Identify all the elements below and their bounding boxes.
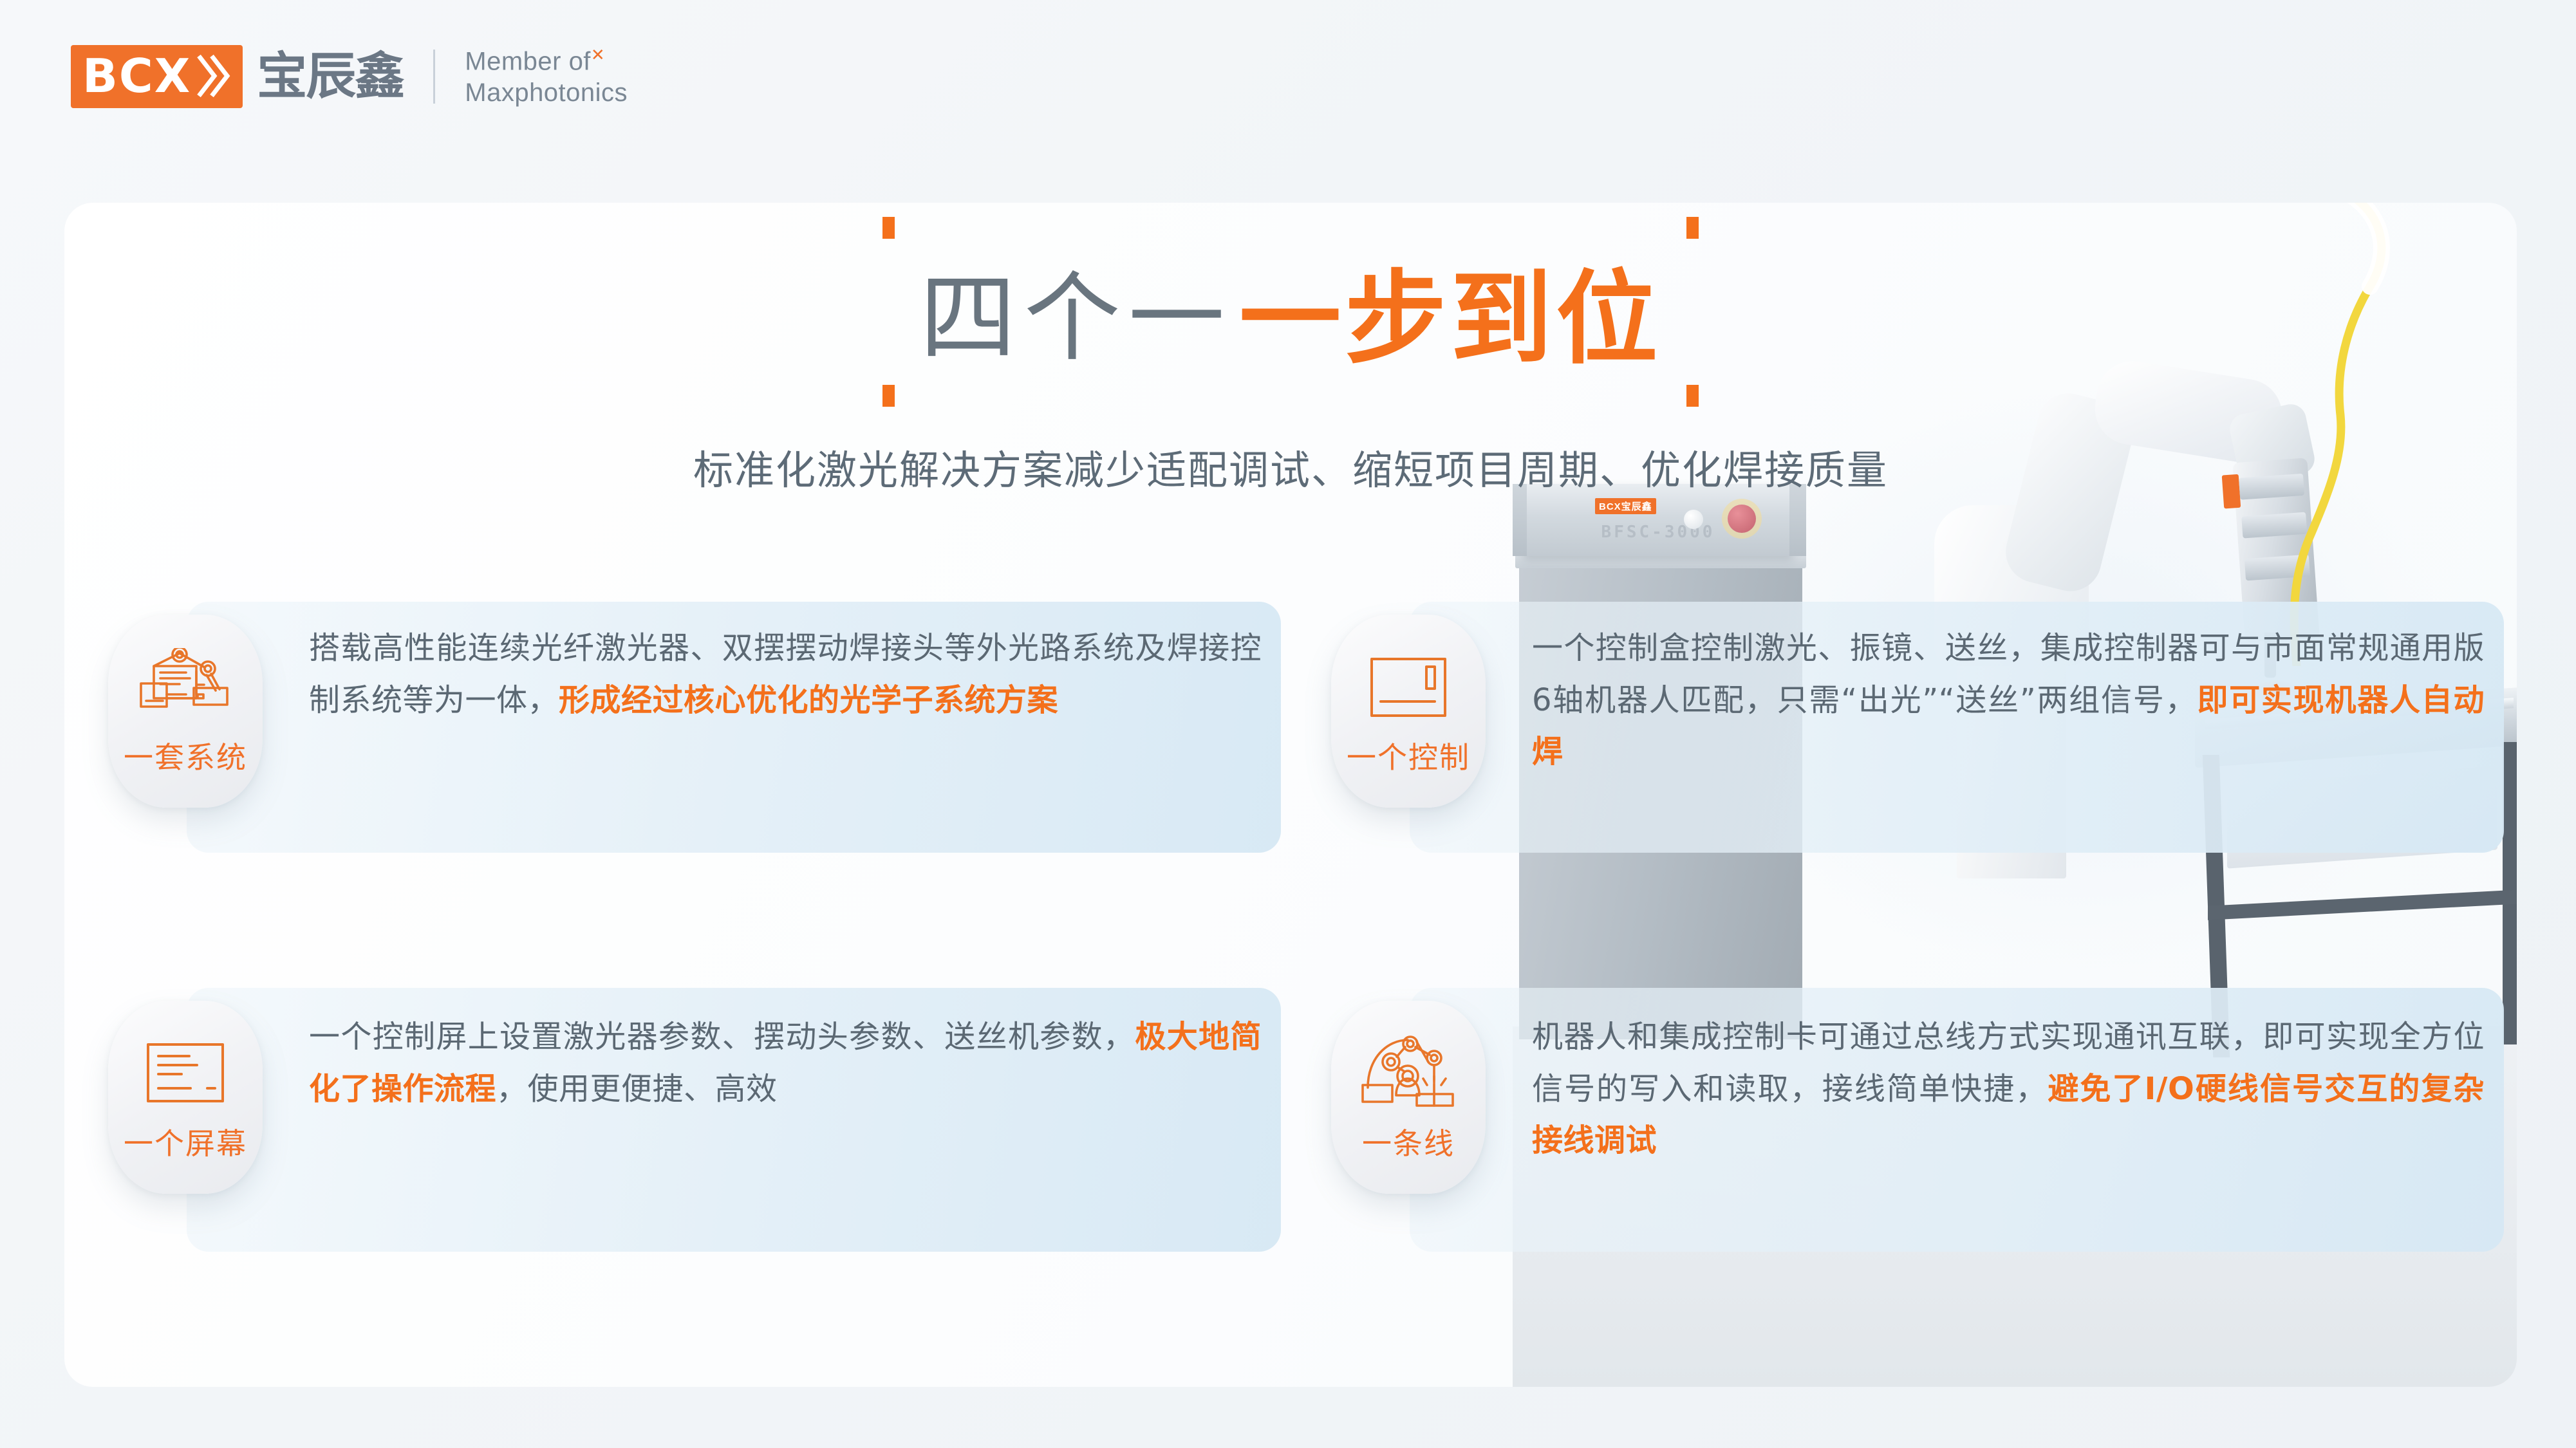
feature-badge-label: 一个屏幕 [124,1120,247,1163]
bcx-logo-letters: BCX [82,53,191,99]
bcx-logo: BCX 宝辰鑫 [71,45,404,108]
feature-badge-system[interactable]: 一套系统 [108,615,263,808]
hero-title: 四个一 一步到位 [894,236,1687,384]
feature-text-plain: 一个控制屏上设置激光器参数、摆动头参数、送丝机参数， [309,1019,1135,1055]
hero-title-gray: 四个一 [920,263,1233,375]
feature-body-text: 一个控制盒控制激光、振镜、送丝，集成控制器可与市面常规通用版6轴机器人匹配，只需… [1532,622,2485,778]
content-panel: BCX宝辰鑫 BFSC-3000 [64,203,2517,1387]
hero-subtitle: 标准化激光解决方案减少适配调试、缩短项目周期、优化焊接质量 [64,438,2517,496]
corner-mark-top-left [882,217,895,239]
brand-header: BCX 宝辰鑫 Member of✕ Maxphotonics [71,45,628,109]
member-of-line2: Maxphotonics [465,77,628,109]
feature-card-system[interactable]: 一套系统 搭载高性能连续光纤激光器、双摆摆动焊接头等外光路系统及焊接控制系统等为… [90,589,1287,949]
control-box-icon [1360,645,1457,729]
corner-mark-bottom-right [1686,385,1699,407]
feature-card-control[interactable]: 一个控制 一个控制盒控制激光、振镜、送丝，集成控制器可与市面常规通用版6轴机器人… [1313,589,2510,949]
feature-badge-control[interactable]: 一个控制 [1331,615,1486,808]
feature-badge-label: 一个控制 [1347,734,1470,777]
feature-body-text: 机器人和集成控制卡可通过总线方式实现通讯互联，即可实现全方位信号的写入和读取，接… [1532,1011,2485,1167]
corner-mark-bottom-left [882,385,895,407]
feature-badge-label: 一条线 [1362,1120,1455,1163]
hero-title-block: 四个一 一步到位 [64,236,2517,384]
bcx-chevron-icon [195,53,231,98]
screen-panel-icon [137,1032,234,1115]
feature-text-highlight: 形成经过核心优化的光学子系统方案 [559,682,1058,718]
emergency-stop-button [1728,505,1756,533]
feature-grid: 一套系统 搭载高性能连续光纤激光器、双摆摆动焊接头等外光路系统及焊接控制系统等为… [64,589,2517,1348]
feature-card-screen[interactable]: 一个屏幕 一个控制屏上设置激光器参数、摆动头参数、送丝机参数，极大地简化了操作流… [90,975,1287,1335]
maxphotonics-x-icon: ✕ [591,45,605,64]
logo-divider [433,50,435,104]
feature-body-text: 一个控制屏上设置激光器参数、摆动头参数、送丝机参数，极大地简化了操作流程，使用更… [309,1011,1262,1115]
bcx-logo-mark: BCX [71,45,243,108]
feature-badge-bus-line[interactable]: 一条线 [1331,1001,1486,1194]
member-of-block: Member of✕ Maxphotonics [465,45,628,109]
welding-robot-icon [1360,1032,1457,1115]
controller-model-label: BFSC-3000 [1523,523,1793,542]
feature-badge-screen[interactable]: 一个屏幕 [108,1001,263,1194]
corner-mark-top-right [1686,217,1699,239]
hero-title-orange: 一步到位 [1239,260,1661,378]
feature-body-text: 搭载高性能连续光纤激光器、双摆摆动焊接头等外光路系统及焊接控制系统等为一体，形成… [309,622,1262,726]
controller-knob [1684,510,1703,529]
robot-arm-system-icon [137,645,234,729]
feature-card-bus-line[interactable]: 一条线 机器人和集成控制卡可通过总线方式实现通讯互联，即可实现全方位信号的写入和… [1313,975,2510,1335]
controller-brand-label: BCX宝辰鑫 [1595,498,1656,514]
bcx-logo-cn: 宝辰鑫 [257,51,404,102]
feature-badge-label: 一套系统 [124,734,247,777]
feature-text-plain-2: ，使用更便捷、高效 [496,1071,778,1107]
member-of-line1: Member of✕ [465,45,628,77]
